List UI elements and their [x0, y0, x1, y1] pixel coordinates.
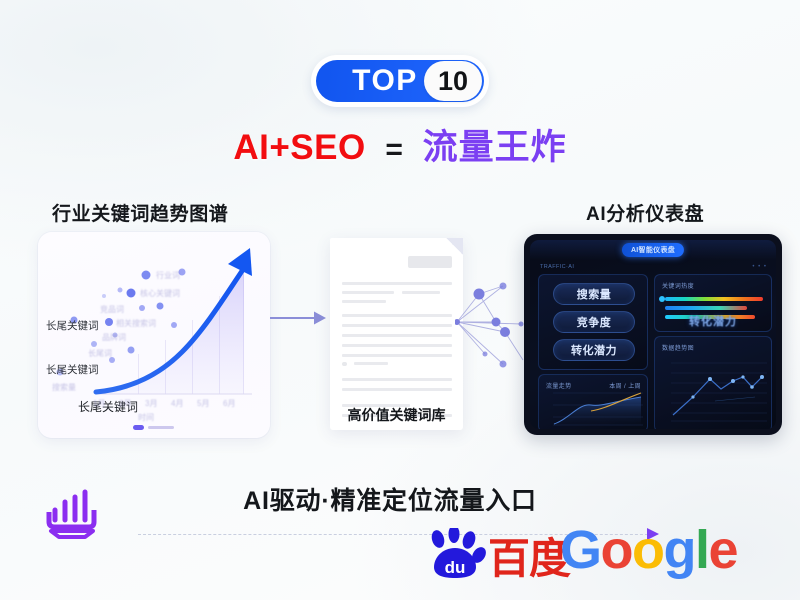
metric-pill-conversion-potential[interactable]: 转化潜力 [553, 339, 635, 361]
chart-xtick-1: 1月 [93, 398, 105, 409]
metric-pill-competition[interactable]: 竞争度 [553, 311, 635, 333]
baidu-paw-icon: du [424, 528, 486, 580]
baidu-wordmark: 百度 [488, 538, 570, 580]
document-line [342, 344, 452, 347]
document-bullet [342, 362, 347, 366]
node-network-graph [455, 272, 527, 375]
gradient-bar-2 [665, 306, 747, 310]
chart-ylabel: 搜索量 [52, 382, 76, 393]
document-line [354, 362, 388, 365]
chart-bubble-label-2: 核心关键词 [140, 288, 180, 299]
chart-bubble-label-4: 品牌词 [102, 332, 126, 343]
keyword-trend-chart-card: 长尾关键词 长尾关键词 长尾关键词 行业词 核心关键词 相关搜索词 品牌词 长尾… [38, 232, 270, 438]
logo-baidu[interactable]: du 百度 [424, 528, 570, 580]
top-rank-badge: TOP 10 [311, 55, 489, 107]
baidu-du-text: du [445, 558, 466, 577]
document-line [342, 354, 452, 357]
section-label-document: 高价值关键词库 [330, 405, 463, 425]
document-line [402, 291, 440, 294]
dashboard-brand-label: TRAFFIC·AI [540, 264, 574, 270]
page-title-operator: = [385, 133, 403, 166]
dashboard-area-chart-panel: 流量走势 [538, 374, 648, 429]
poster-canvas: TOP 10 AI+SEO = 流量王炸 行业关键词趋势图谱 AI分析仪表盘 [0, 0, 800, 600]
google-letter-l: l [695, 520, 709, 580]
document-header-block [408, 256, 452, 268]
google-letter-e: e [709, 520, 738, 580]
dashboard-screen: AI智能仪表盘 TRAFFIC·AI • • • 搜索量 竞争度 转化潜力 流量… [530, 240, 776, 429]
keyword-library-document [330, 238, 463, 430]
chart-bubble-label-6: 竞品词 [100, 304, 124, 315]
document-line [342, 282, 452, 285]
bars-panel-caption: 关键词热度 [662, 281, 694, 290]
metric-pill-search-volume[interactable]: 搜索量 [553, 283, 635, 305]
section-label-dashboard: AI分析仪表盘 [586, 199, 704, 226]
top-badge-number-chip: 10 [424, 61, 482, 101]
chart-xtick-3: 3月 [145, 398, 157, 409]
chart-bubble-label-5: 长尾词 [88, 348, 112, 359]
document-line [342, 300, 386, 303]
google-letter-g1: G [560, 520, 601, 580]
bar-chart-pedestal-icon [42, 486, 102, 545]
google-letter-o2: o [632, 520, 664, 580]
bars-dot-marker [657, 294, 667, 304]
chart-legend-swatch [133, 425, 144, 430]
document-fold-corner [446, 238, 463, 255]
document-line [342, 324, 452, 327]
section-label-chart: 行业关键词趋势图谱 [52, 199, 228, 226]
chart-xtick-5: 5月 [197, 398, 209, 409]
document-line [342, 291, 394, 294]
chart-bubble-label-3: 相关搜索词 [116, 318, 156, 329]
chart-xtick-4: 4月 [171, 398, 183, 409]
flow-arrow-chart-to-doc [270, 310, 328, 331]
google-letter-g2: g [664, 520, 696, 580]
dashboard-gradient-bars-panel: 关键词热度 转化潜力 [654, 274, 772, 332]
ai-dashboard-device: AI智能仪表盘 TRAFFIC·AI • • • 搜索量 竞争度 转化潜力 流量… [524, 234, 782, 435]
footer-tagline: AI驱动·精准定位流量入口 [160, 481, 620, 517]
chart-annotation-1: 长尾关键词 [46, 318, 99, 333]
gradient-bar-1 [665, 297, 763, 301]
google-letter-o1: o [601, 520, 633, 580]
dashboard-title-badge: AI智能仪表盘 [622, 243, 684, 257]
dashboard-metrics-panel: 搜索量 竞争度 转化潜力 [538, 274, 648, 370]
chart-xtick-2: 2月 [119, 398, 131, 409]
logo-google[interactable]: Google [560, 523, 737, 577]
dashboard-menu-dots[interactable]: • • • [752, 264, 767, 270]
chart-xtick-6: 6月 [223, 398, 235, 409]
page-title-right: 流量王炸 [423, 128, 567, 167]
document-line [342, 334, 452, 337]
page-title: AI+SEO = 流量王炸 [0, 126, 800, 172]
document-line [342, 378, 452, 381]
chart-bubble-label-1: 行业词 [156, 270, 180, 281]
dashboard-line-chart-svg [655, 337, 773, 429]
chart-legend-label-blur [148, 426, 174, 429]
document-line [342, 314, 452, 317]
top-badge-number: 10 [438, 68, 468, 95]
chart-xlabel: 时间 [138, 412, 154, 423]
dashboard-line-chart-panel: 数据趋势图 [654, 336, 772, 429]
bars-panel-overlay-text: 转化潜力 [655, 313, 771, 329]
top-badge-label: TOP [352, 66, 418, 96]
area-panel-legend: 本周 / 上周 [609, 381, 641, 390]
page-title-left: AI+SEO [233, 128, 365, 167]
document-line [342, 388, 452, 391]
chart-annotation-2: 长尾关键词 [46, 362, 99, 377]
